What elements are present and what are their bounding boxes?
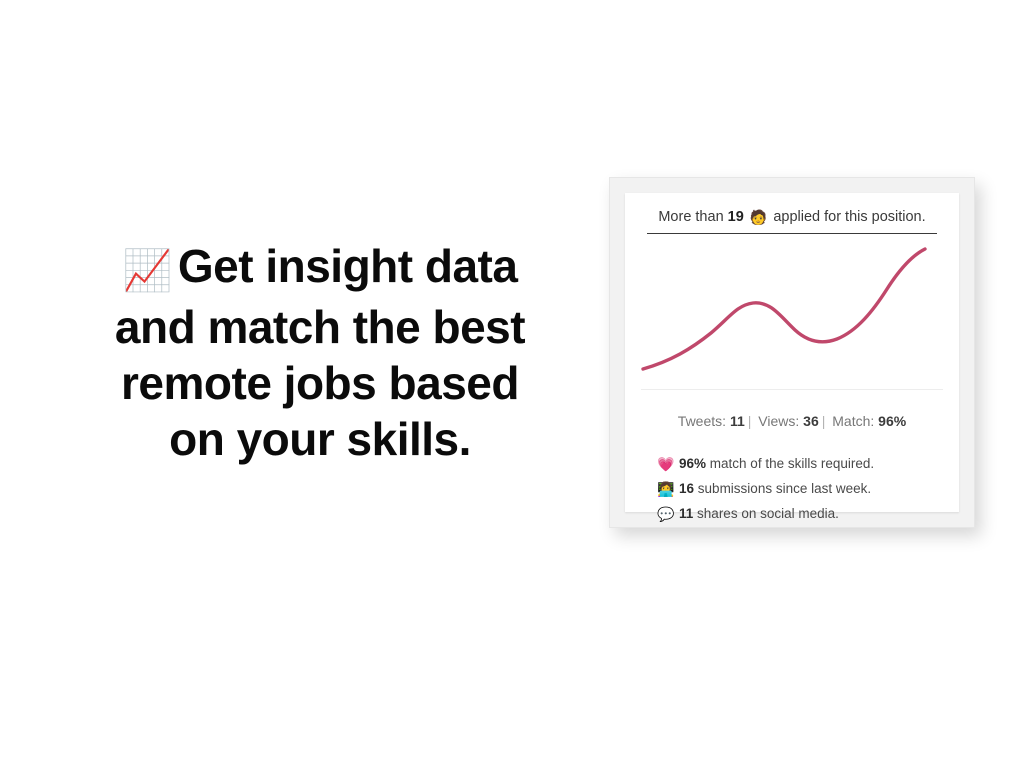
bullet-label: shares on social media. [697,506,839,521]
bullet-text: 11 shares on social media. [679,506,839,521]
stats-separator-1: | [748,413,752,429]
match-label: Match: [832,413,874,429]
chart-line-path [643,249,925,369]
bullet-text: 96% match of the skills required. [679,456,874,471]
growing-heart-icon: 💗 [657,457,679,471]
bullet-label: match of the skills required. [710,456,874,471]
headline-line-1: 📈Get insight data [60,238,580,299]
headline-line-3: remote jobs based [60,355,580,411]
views-value: 36 [803,413,819,429]
bullet-value: 11 [679,506,693,521]
list-item: 💗 96% match of the skills required. [657,451,941,476]
tweets-value: 11 [730,413,745,429]
chart-increasing-emoji: 📈 [123,249,172,293]
insight-card: More than 19 🧑 applied for this position… [609,177,975,528]
speech-balloon-icon: 💬 [657,507,679,521]
bullet-value: 96% [679,456,706,471]
bullet-value: 16 [679,481,694,496]
headline-line-4: on your skills. [60,411,580,467]
tweets-label: Tweets: [678,413,726,429]
headline-line-2: and match the best [60,299,580,355]
insight-line-chart [625,241,959,389]
stats-separator-2: | [822,413,826,429]
match-value: 96% [878,413,906,429]
card-header: More than 19 🧑 applied for this position… [647,209,937,234]
card-header-suffix: applied for this position. [773,209,925,225]
person-emoji: 🧑 [750,209,767,225]
technologist-icon: 👩‍💻 [657,482,679,496]
card-panel: More than 19 🧑 applied for this position… [625,193,959,512]
card-header-prefix: More than [658,209,723,225]
headline-block: 📈Get insight data and match the best rem… [60,238,580,467]
list-item: 💬 11 shares on social media. [657,501,941,526]
chart-divider [641,389,943,390]
stats-row: Tweets: 11| Views: 36| Match: 96% [641,413,943,429]
applicants-count: 19 [728,209,744,225]
views-label: Views: [758,413,799,429]
list-item: 👩‍💻 16 submissions since last week. [657,476,941,501]
bullet-label: submissions since last week. [698,481,871,496]
insight-bullet-list: 💗 96% match of the skills required. 👩‍💻 … [657,451,941,526]
bullet-text: 16 submissions since last week. [679,481,871,496]
headline-line-1-text: Get insight data [178,240,518,292]
